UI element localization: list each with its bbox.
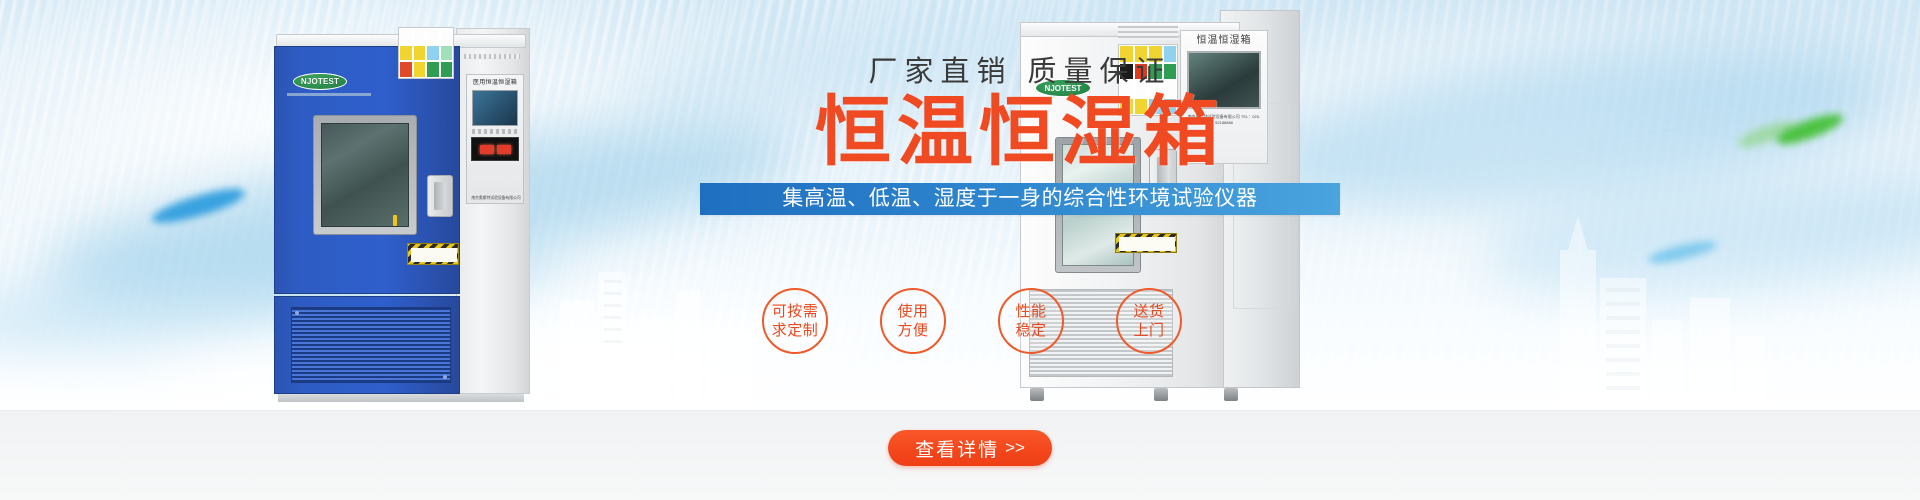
readout-segment (497, 145, 511, 154)
chamber-vent-slots (1118, 26, 1178, 40)
feature-badge-custom[interactable]: 可按需 求定制 (762, 288, 828, 354)
chamber-vent-slots (464, 54, 520, 59)
chamber-base-unit (274, 296, 460, 394)
brand-logo-oval: NJOTEST (293, 73, 347, 90)
hazard-label-inner (411, 248, 457, 262)
feature-badge-stable[interactable]: 性能 稳定 (998, 288, 1064, 354)
hazard-label (1115, 233, 1177, 253)
caster (1030, 388, 1044, 401)
feature-line-1: 可按需 (772, 302, 819, 321)
digital-readout (471, 137, 519, 161)
indicator-dot (393, 215, 397, 226)
hazard-label (407, 243, 459, 265)
horizon-line (0, 410, 1920, 411)
feature-badge-easy-use[interactable]: 使用 方便 (880, 288, 946, 354)
banner-headline: 恒温恒湿箱 (700, 91, 1340, 175)
control-panel-footnote: 南京奥斯特试验设备有限公司 (470, 196, 522, 201)
chamber-door-handle[interactable] (427, 175, 453, 217)
view-details-button[interactable]: 查看详情 >> (888, 430, 1052, 466)
feature-line-1: 使用 (897, 302, 928, 321)
safety-sticker (398, 27, 454, 79)
caster (1224, 388, 1238, 401)
feature-line-2: 上门 (1133, 321, 1164, 340)
hmi-screen-glow (473, 91, 517, 125)
caster (1154, 388, 1168, 401)
chamber-viewport (313, 115, 417, 235)
chamber-foot-plinth (278, 394, 524, 402)
chevron-right-icon: >> (1005, 438, 1025, 458)
control-panel[interactable]: 医用恒温恒湿箱 南京奥斯特试验设备有限公司 (466, 74, 524, 204)
feature-line-1: 性能 (1015, 302, 1046, 321)
feature-badge-delivery[interactable]: 送货 上门 (1116, 288, 1182, 354)
banner-tagline: 厂家直销 质量保证 (700, 55, 1340, 89)
chamber-air-grille (291, 307, 451, 383)
product-image-blue-chamber: NJOTEST (268, 28, 530, 402)
chamber-casters (1026, 388, 1276, 402)
readout-segment (480, 145, 494, 154)
chamber-blue-front: NJOTEST (274, 46, 460, 294)
feature-line-2: 方便 (897, 321, 928, 340)
feature-line-1: 送货 (1133, 302, 1164, 321)
panel-keypad[interactable] (472, 129, 518, 134)
feature-line-2: 求定制 (772, 321, 819, 340)
glass-reflection (287, 93, 371, 96)
control-panel-title: 医用恒温恒湿箱 (471, 79, 519, 87)
control-panel-title: 恒温恒湿箱 (1185, 35, 1263, 47)
feature-line-2: 稳定 (1015, 321, 1046, 340)
hazard-label-inner (1119, 237, 1175, 251)
hmi-touchscreen[interactable] (472, 90, 518, 126)
viewport-glass (321, 123, 409, 227)
banner-copy-block: 厂家直销 质量保证 恒温恒湿箱 集高温、低温、湿度于一身的综合性环境试验仪器 (700, 55, 1340, 215)
promo-banner: NJOTEST (0, 0, 1920, 500)
cta-label: 查看详情 (915, 435, 999, 462)
banner-subtitle-band: 集高温、低温、湿度于一身的综合性环境试验仪器 (700, 183, 1340, 215)
feature-badge-list: 可按需 求定制 使用 方便 性能 稳定 送货 上门 (762, 288, 1182, 354)
